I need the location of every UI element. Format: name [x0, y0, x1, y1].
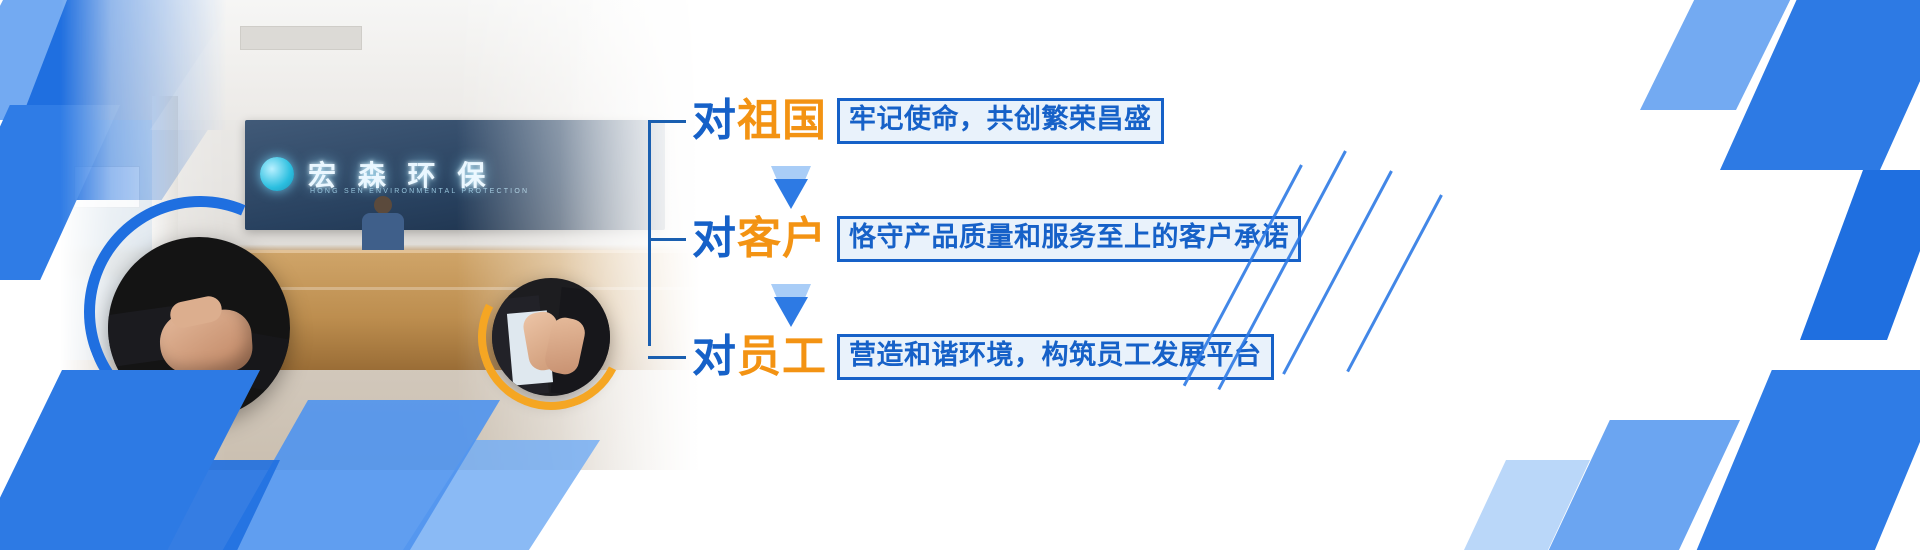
slogan-row-1: 对祖国 牢记使命，共创繁荣昌盛 — [648, 92, 1164, 150]
decor-hatch-lines — [1290, 175, 1590, 435]
brand-name-en: HONG SEN ENVIRONMENTAL PROTECTION — [310, 188, 529, 195]
slogan-heading-2: 对客户 — [692, 217, 827, 261]
receptionist-figure — [360, 196, 406, 258]
slogan-heading-1: 对祖国 — [692, 99, 827, 143]
slogan-row-3: 对员工 营造和谐环境，构筑员工发展平台 — [648, 328, 1274, 386]
slogan-prefix-2: 对 — [692, 213, 737, 264]
slogan-statement-2: 恪守产品质量和服务至上的客户承诺 — [837, 216, 1301, 262]
slogan-prefix-3: 对 — [692, 331, 737, 382]
reception-logo-sign: 宏 森 环 保 HONG SEN ENVIRONMENTAL PROTECTIO… — [260, 148, 640, 200]
decor-shard-right-mid — [1800, 170, 1920, 340]
slogan-target-3: 员工 — [737, 331, 827, 382]
slogan-statement-1: 牢记使命，共创繁荣昌盛 — [837, 98, 1164, 144]
applause-photo — [492, 278, 610, 396]
chevron-down-icon — [768, 284, 814, 328]
slogan-target-2: 客户 — [737, 213, 827, 264]
company-culture-banner: 宏 森 环 保 HONG SEN ENVIRONMENTAL PROTECTIO… — [0, 0, 1920, 550]
slogan-row-2: 对客户 恪守产品质量和服务至上的客户承诺 — [648, 210, 1301, 268]
slogan-target-1: 祖国 — [737, 95, 827, 146]
chevron-down-icon — [768, 166, 814, 210]
row-tick-1 — [648, 120, 686, 123]
slogan-heading-3: 对员工 — [692, 335, 827, 379]
row-tick-2 — [648, 238, 686, 241]
slogan-prefix-1: 对 — [692, 95, 737, 146]
row-tick-3 — [648, 356, 686, 359]
globe-leaf-icon — [260, 157, 294, 191]
